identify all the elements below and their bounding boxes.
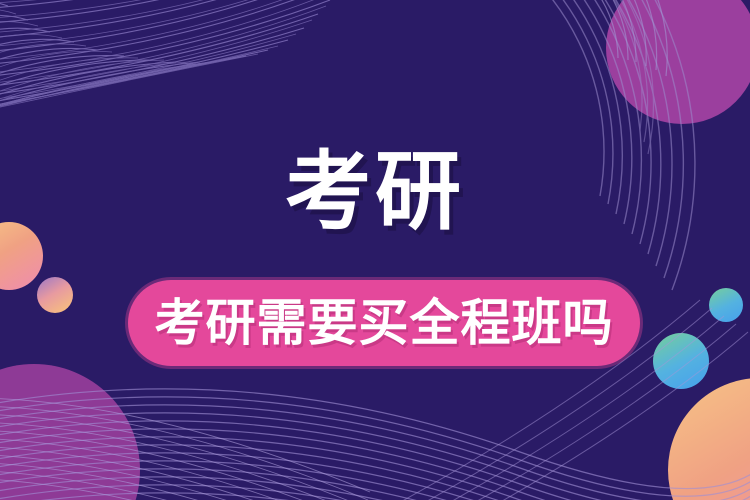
subtitle-text: 考研需要买全程班吗 bbox=[128, 280, 640, 366]
subtitle-pill: 考研需要买全程班吗 bbox=[128, 280, 640, 366]
content-layer: 考研 考研需要买全程班吗 bbox=[0, 0, 750, 500]
poster-canvas: 考研 考研需要买全程班吗 bbox=[0, 0, 750, 500]
page-title: 考研 bbox=[0, 142, 750, 242]
